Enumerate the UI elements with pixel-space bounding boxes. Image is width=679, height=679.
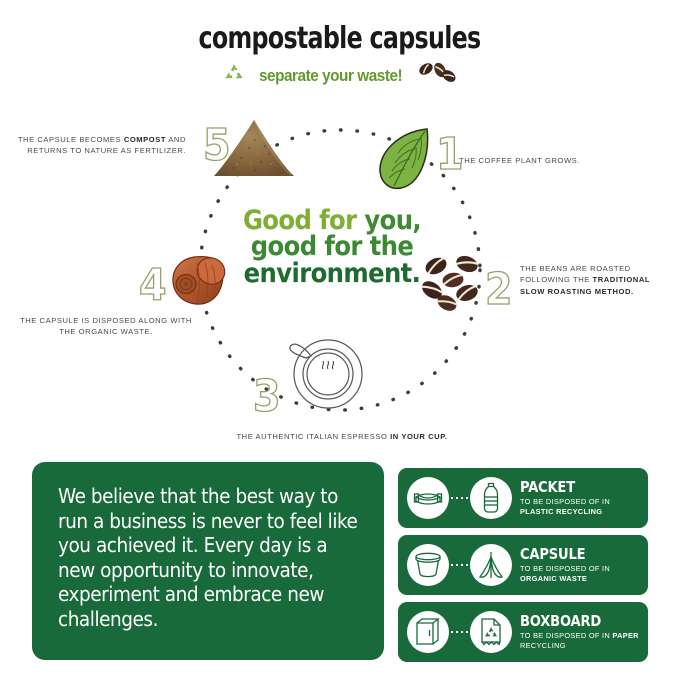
step-label-5: THE CAPSULE BECOMES COMPOST AND RETURNS …	[14, 134, 186, 157]
slogan-line-2: good for the	[236, 234, 428, 260]
recycle-icon	[223, 63, 245, 89]
card-subtitle: TO BE DISPOSED OF IN PAPERRECYCLING	[520, 631, 639, 651]
step-label-3: THE AUTHENTIC ITALIAN ESPRESSO IN YOUR C…	[192, 431, 492, 442]
plastic-bottle-icon	[470, 477, 512, 519]
paper-recycling-icon	[470, 611, 512, 653]
carton-box-icon	[407, 611, 449, 653]
disposal-card-packet[interactable]: PACKET TO BE DISPOSED OF INPLASTIC RECYC…	[398, 468, 648, 528]
step-label-1: THE COFFEE PLANT GROWS.	[459, 155, 639, 166]
card-text-packet: PACKET TO BE DISPOSED OF INPLASTIC RECYC…	[520, 479, 610, 518]
infographic-page: compostable capsules separate your waste…	[0, 0, 679, 679]
step-number-5: 5	[203, 124, 231, 168]
header: compostable capsules separate your waste…	[0, 24, 679, 91]
card-text-boxboard: BOXBOARD TO BE DISPOSED OF IN PAPERRECYC…	[520, 613, 639, 652]
coffee-capsule-icon	[167, 253, 229, 314]
disposal-cards: PACKET TO BE DISPOSED OF INPLASTIC RECYC…	[398, 468, 648, 662]
espresso-cup-icon	[284, 336, 364, 417]
coffee-beans-icon	[420, 250, 492, 319]
coffee-capsule-icon	[407, 544, 449, 586]
step-label-2: THE BEANS ARE ROASTED FOLLOWING THE TRAD…	[520, 263, 672, 297]
packet-pouch-icon	[407, 477, 449, 519]
card-subtitle: TO BE DISPOSED OF INORGANIC WASTE	[520, 564, 610, 584]
card-connector-dots	[451, 631, 468, 633]
step-number-2: 2	[485, 268, 513, 312]
slogan-line-3: environment.	[236, 261, 428, 287]
disposal-card-boxboard[interactable]: BOXBOARD TO BE DISPOSED OF IN PAPERRECYC…	[398, 602, 648, 662]
center-slogan: Good for you, good for the environment.	[236, 208, 428, 287]
card-title: PACKET	[520, 479, 605, 495]
card-connector-dots	[451, 497, 468, 499]
banana-peel-icon	[470, 544, 512, 586]
card-title: BOXBOARD	[520, 613, 632, 629]
lifecycle-diagram: Good for you, good for the environment.	[0, 100, 679, 455]
disposal-card-capsule[interactable]: CAPSULE TO BE DISPOSED OF INORGANIC WAST…	[398, 535, 648, 595]
quote-panel: We believe that the best way to run a bu…	[32, 462, 384, 660]
header-subtitle: separate your waste!	[259, 66, 402, 86]
card-title: CAPSULE	[520, 546, 605, 562]
header-subline: separate your waste!	[0, 60, 679, 91]
page-title: compostable capsules	[41, 24, 639, 54]
card-text-capsule: CAPSULE TO BE DISPOSED OF INORGANIC WAST…	[520, 546, 610, 585]
step-label-4: THE CAPSULE IS DISPOSED ALONG WITH THE O…	[18, 315, 194, 338]
card-connector-dots	[451, 564, 468, 566]
coffee-beans-icon	[416, 60, 456, 91]
quote-text: We believe that the best way to run a bu…	[58, 484, 360, 632]
card-subtitle: TO BE DISPOSED OF INPLASTIC RECYCLING	[520, 497, 610, 517]
step-number-3: 3	[253, 375, 281, 419]
leaf-icon	[377, 126, 433, 197]
step-number-4: 4	[139, 264, 167, 308]
